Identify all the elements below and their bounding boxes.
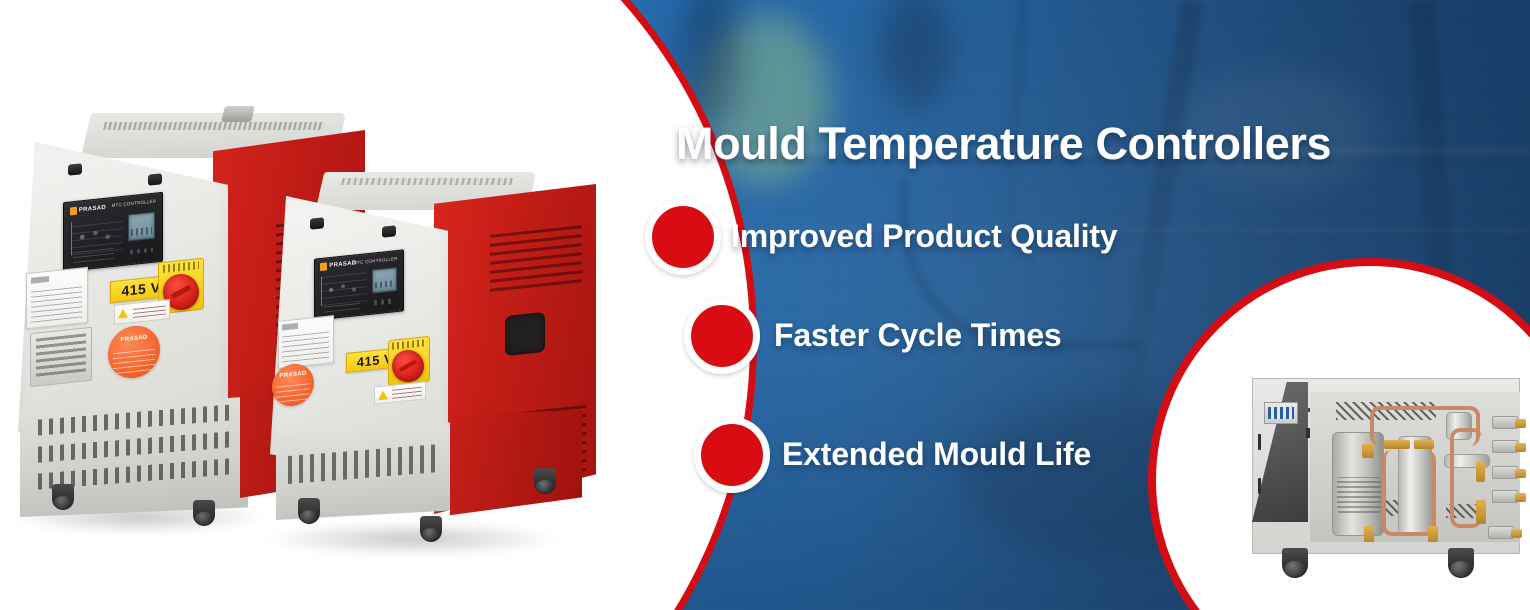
outlet-valve <box>1488 526 1514 539</box>
brass-fitting <box>1362 444 1374 458</box>
valve-handle-icon <box>1515 419 1526 428</box>
copper-pipe <box>1382 450 1436 536</box>
valve-handle-icon <box>1515 469 1526 478</box>
machine-motor <box>1332 432 1384 536</box>
machine-caster <box>1282 548 1308 578</box>
brass-fitting <box>1364 526 1374 542</box>
brass-fitting <box>1476 500 1486 524</box>
machine-slot <box>1258 478 1261 494</box>
outlet-valve <box>1492 440 1518 453</box>
bullet-marker-icon <box>684 298 760 374</box>
brass-fitting <box>1384 440 1410 449</box>
outlet-valve <box>1492 466 1518 479</box>
valve-handle-icon <box>1515 493 1526 502</box>
outlet-valve <box>1492 416 1518 429</box>
valve-handle-icon <box>1511 529 1522 538</box>
valve-handle-icon <box>1515 443 1526 452</box>
bullet-marker-icon <box>645 199 721 275</box>
brass-fitting <box>1414 440 1434 449</box>
outlet-valve <box>1492 490 1518 503</box>
benefit-label-2: Faster Cycle Times <box>774 317 1062 354</box>
machine-control-unit <box>1264 402 1298 424</box>
brass-fitting <box>1428 526 1438 542</box>
machine-cutaway <box>1234 378 1524 588</box>
machine-caster <box>1448 548 1474 578</box>
benefit-label-1: Improved Product Quality <box>731 218 1117 255</box>
promo-banner: PRASAD MTC CONTROLLER 415 V PRASAD <box>0 0 1530 610</box>
machine-slot <box>1258 434 1261 450</box>
bullet-marker-icon <box>694 417 770 493</box>
brass-fitting <box>1476 462 1485 482</box>
benefit-label-3: Extended Mould Life <box>782 436 1091 473</box>
machine-interior <box>1310 392 1520 542</box>
